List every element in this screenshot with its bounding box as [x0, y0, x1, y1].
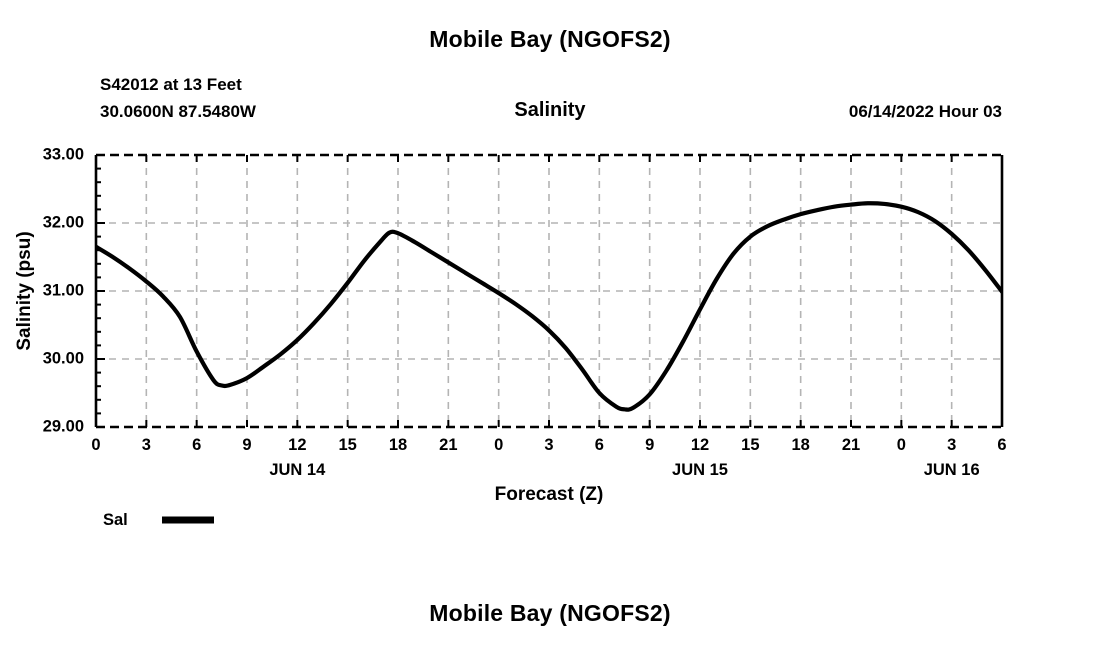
bottom-title: Mobile Bay (NGOFS2)	[0, 600, 1100, 627]
y-tick-label: 30.00	[43, 349, 84, 367]
x-axis-title: Forecast (Z)	[495, 484, 604, 505]
x-tick-label: 6	[997, 436, 1006, 454]
x-tick-label: 15	[338, 436, 356, 454]
x-tick-label: 18	[389, 436, 407, 454]
x-tick-label: 6	[595, 436, 604, 454]
x-tick-label: 0	[494, 436, 503, 454]
x-tick-label: 3	[544, 436, 553, 454]
x-tick-label: 12	[288, 436, 306, 454]
x-axis-day-labels: JUN 14JUN 15JUN 16	[269, 461, 979, 479]
legend-label: Sal	[103, 511, 128, 529]
y-tick-label: 33.00	[43, 145, 84, 163]
x-day-label: JUN 15	[672, 461, 728, 479]
y-tick-label: 32.00	[43, 213, 84, 231]
y-tick-label: 31.00	[43, 281, 84, 299]
x-day-label: JUN 16	[924, 461, 980, 479]
y-axis-tick-labels: 29.0030.0031.0032.0033.00	[43, 145, 84, 435]
x-axis-tick-labels: 036912151821036912151821036	[91, 436, 1006, 454]
x-tick-label: 9	[242, 436, 251, 454]
x-tick-label: 21	[439, 436, 457, 454]
x-tick-label: 18	[791, 436, 809, 454]
x-day-label: JUN 14	[269, 461, 326, 479]
x-tick-label: 6	[192, 436, 201, 454]
y-tick-label: 29.00	[43, 417, 84, 435]
x-tick-label: 12	[691, 436, 709, 454]
x-tick-label: 9	[645, 436, 654, 454]
x-tick-label: 3	[142, 436, 151, 454]
x-tick-label: 0	[91, 436, 100, 454]
x-tick-label: 3	[947, 436, 956, 454]
legend: Sal	[103, 511, 214, 529]
salinity-time-series-plot: 29.0030.0031.0032.0033.00Salinity (psu)0…	[0, 0, 1100, 650]
x-tick-label: 15	[741, 436, 759, 454]
x-tick-label: 0	[897, 436, 906, 454]
x-tick-label: 21	[842, 436, 860, 454]
chart-page: Mobile Bay (NGOFS2) S42012 at 13 Feet 30…	[0, 0, 1100, 650]
y-axis-title: Salinity (psu)	[14, 231, 35, 350]
